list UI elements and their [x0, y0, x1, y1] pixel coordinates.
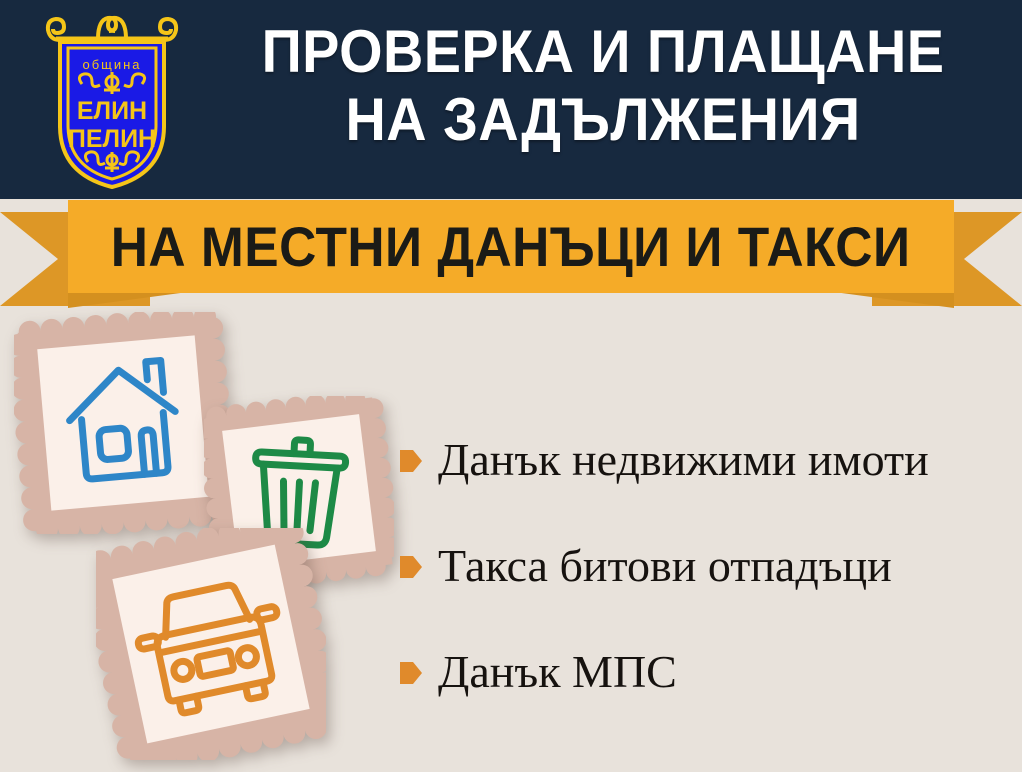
tax-type-list: Данък недвижими имоти Такса битови отпад… [400, 424, 1010, 742]
ribbon-label: НА МЕСТНИ ДАНЪЦИ И ТАКСИ [111, 218, 911, 276]
list-item-label: Данък недвижими имоти [438, 434, 929, 486]
promo-banner: община ЕЛИН ПЕЛИН [0, 0, 1022, 772]
page-title-line-2: НА ЗАДЪЛЖЕНИЯ [224, 86, 981, 154]
list-item-label: Такса битови отпадъци [438, 540, 892, 592]
ribbon-face: НА МЕСТНИ ДАНЪЦИ И ТАКСИ [68, 200, 954, 293]
svg-text:ПЕЛИН: ПЕЛИН [68, 125, 156, 153]
subtitle-ribbon: НА МЕСТНИ ДАНЪЦИ И ТАКСИ [0, 198, 1022, 310]
stamp-card-car [96, 528, 326, 760]
list-item[interactable]: Данък недвижими имоти [400, 424, 1010, 496]
list-item-label: Данък МПС [438, 646, 677, 698]
arrow-bullet-icon [400, 554, 422, 580]
stamp-card-house [14, 312, 232, 534]
list-item[interactable]: Такса битови отпадъци [400, 530, 1010, 602]
svg-text:община: община [82, 57, 141, 72]
arrow-bullet-icon [400, 660, 422, 686]
svg-text:ЕЛИН: ЕЛИН [77, 97, 147, 125]
arrow-bullet-icon [400, 448, 422, 474]
list-item[interactable]: Данък МПС [400, 636, 1010, 708]
page-title-line-1: ПРОВЕРКА И ПЛАЩАНЕ [224, 18, 981, 86]
header-title-block: ПРОВЕРКА И ПЛАЩАНЕ НА ЗАДЪЛЖЕНИЯ [196, 18, 1010, 154]
municipality-crest: община ЕЛИН ПЕЛИН [38, 6, 186, 191]
header-bar: община ЕЛИН ПЕЛИН [0, 0, 1022, 199]
